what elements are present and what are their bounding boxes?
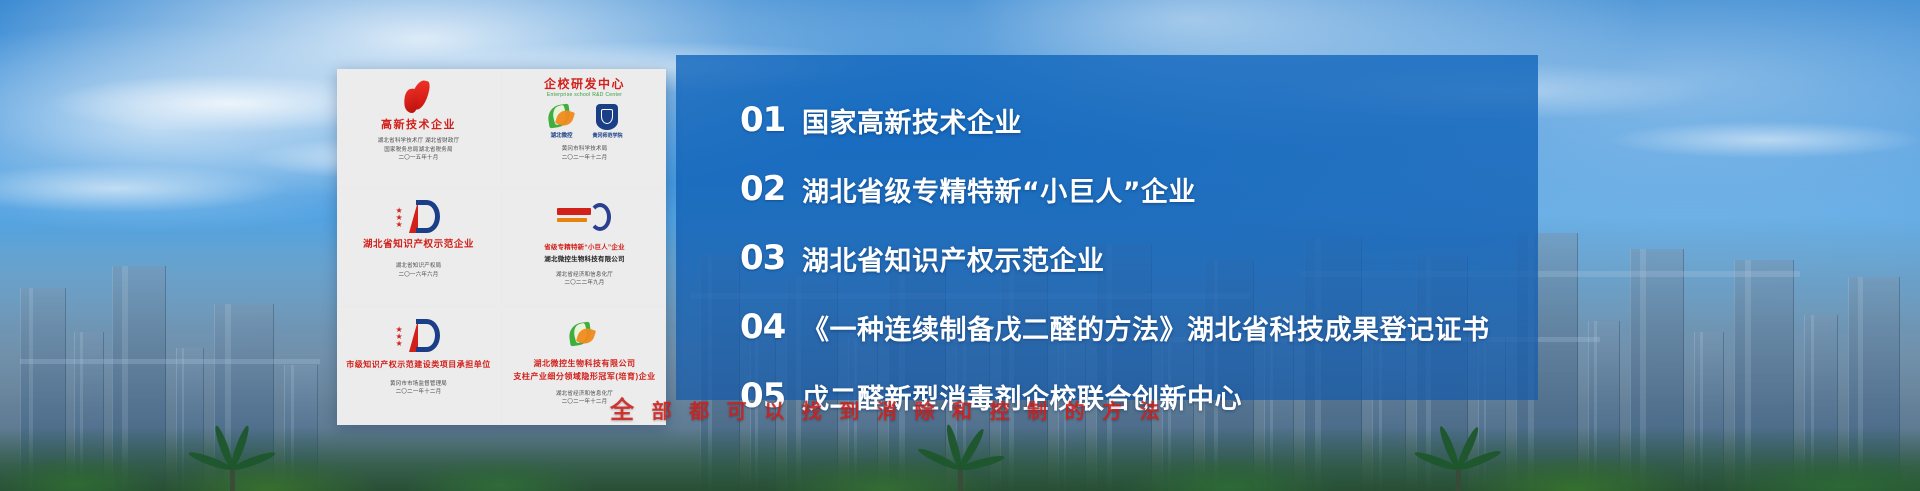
list-item[interactable]: 03 湖北省知识产权示范企业: [740, 229, 1538, 287]
honors-list: 01 国家高新技术企业 02 湖北省级专精特新“小巨人”企业 03 湖北省知识产…: [676, 55, 1538, 400]
certificate-date: 二〇一五年十月: [378, 154, 460, 163]
certificate-subtitle-en: Enterprise school R&D Center: [547, 92, 622, 98]
list-item[interactable]: 01 国家高新技术企业: [740, 91, 1538, 149]
list-item-label: 《一种连续制备戊二醛的方法》湖北省科技成果登记证书: [802, 308, 1490, 347]
certificate-tile[interactable]: 省级专精特新“小巨人”企业 湖北微控生物科技有限公司 湖北省经济和信息化厅 二〇…: [503, 189, 666, 306]
certificate-issuer-line: 湖北省知识产权局: [396, 262, 442, 271]
certificate-collage: 高新技术企业 湖北省科学技术厅 湖北省财政厅 国家税务总局湖北省税务局 二〇一五…: [337, 69, 666, 425]
certificate-issuer-line: 黄冈市科学技术局: [562, 145, 608, 154]
certificate-company: 湖北微控生物科技有限公司: [534, 359, 636, 369]
certificate-tile[interactable]: ★★★ 湖北省知识产权示范企业 湖北省知识产权局 二〇一六年六月: [337, 189, 500, 306]
certificate-tile[interactable]: ★★★ 市级知识产权示范建设类项目承担单位 黄冈市市场监督管理局 二〇二一年十二…: [337, 308, 500, 425]
certificate-title: 市级知识产权示范建设类项目承担单位: [346, 360, 491, 370]
zhuanjing-texin-emblem: [557, 197, 613, 237]
certificate-issuer-line: 湖北省科学技术厅 湖北省财政厅: [378, 137, 460, 146]
certificate-issuer-line: 湖北省经济和信息化厅: [556, 390, 613, 399]
list-item-number: 02: [740, 169, 802, 209]
sail-star-emblem: ★★★: [396, 316, 442, 356]
flame-emblem: [404, 77, 434, 117]
certificate-badge-label: 黄冈师范学院: [592, 132, 622, 139]
list-item-number: 03: [740, 238, 802, 278]
list-item-label: 国家高新技术企业: [802, 101, 1022, 140]
slogan-text: 部 都 可 以 找 到 消 除 和 控 制 的 方 法: [652, 401, 1166, 423]
certificate-date: 二〇二二年九月: [556, 279, 613, 288]
list-item-number: 04: [740, 307, 802, 347]
honors-list-panel: 01 国家高新技术企业 02 湖北省级专精特新“小巨人”企业 03 湖北省知识产…: [676, 55, 1538, 400]
certificate-badge-label: 湖北微控: [550, 131, 572, 139]
certificate-title: 高新技术企业: [381, 119, 456, 132]
list-item-label: 湖北省级专精特新“小巨人”企业: [802, 170, 1196, 209]
certificate-title: 湖北省知识产权示范企业: [363, 239, 474, 250]
foreground-greenery: [0, 427, 1920, 491]
certificate-issuer-line: 黄冈市市场监督管理局: [390, 380, 447, 389]
decorative-red-slogan: 全 部 都 可 以 找 到 消 除 和 控 制 的 方 法: [610, 390, 1166, 425]
certificate-tile[interactable]: 企校研发中心 Enterprise school R&D Center 湖北微控…: [503, 69, 666, 186]
certificate-issuer-line: 国家税务总局湖北省税务局: [378, 146, 460, 155]
list-item[interactable]: 04 《一种连续制备戊二醛的方法》湖北省科技成果登记证书: [740, 298, 1538, 356]
certificate-subtitle: 支柱产业细分领域隐形冠军(培育)企业: [513, 372, 655, 382]
certificate-date: 二〇二一年十二月: [556, 398, 613, 407]
certificate-date: 二〇一六年六月: [396, 271, 442, 280]
banner-root: 全 部 都 可 以 找 到 消 除 和 控 制 的 方 法 01 国家高新技术企…: [0, 0, 1920, 491]
certificate-company: 湖北微控生物科技有限公司: [544, 255, 624, 265]
list-item-label: 湖北省知识产权示范企业: [802, 239, 1105, 278]
leaf-green-emblem: [567, 316, 603, 356]
certificate-tile[interactable]: 高新技术企业 湖北省科学技术厅 湖北省财政厅 国家税务总局湖北省税务局 二〇一五…: [337, 69, 500, 186]
shield-icon: [596, 104, 618, 130]
leaf-green-emblem: [546, 102, 576, 130]
slogan-lead: 全: [610, 397, 640, 424]
certificate-date: 二〇二一年十二月: [562, 154, 608, 163]
list-item[interactable]: 02 湖北省级专精特新“小巨人”企业: [740, 160, 1538, 218]
list-item-number: 01: [740, 100, 802, 140]
certificate-title: 企校研发中心: [544, 77, 625, 91]
certificate-title: 省级专精特新“小巨人”企业: [544, 243, 625, 253]
certificate-date: 二〇二一年十二月: [390, 388, 447, 397]
certificate-issuer-line: 湖北省经济和信息化厅: [556, 271, 613, 280]
sail-star-emblem: ★★★: [396, 197, 442, 237]
